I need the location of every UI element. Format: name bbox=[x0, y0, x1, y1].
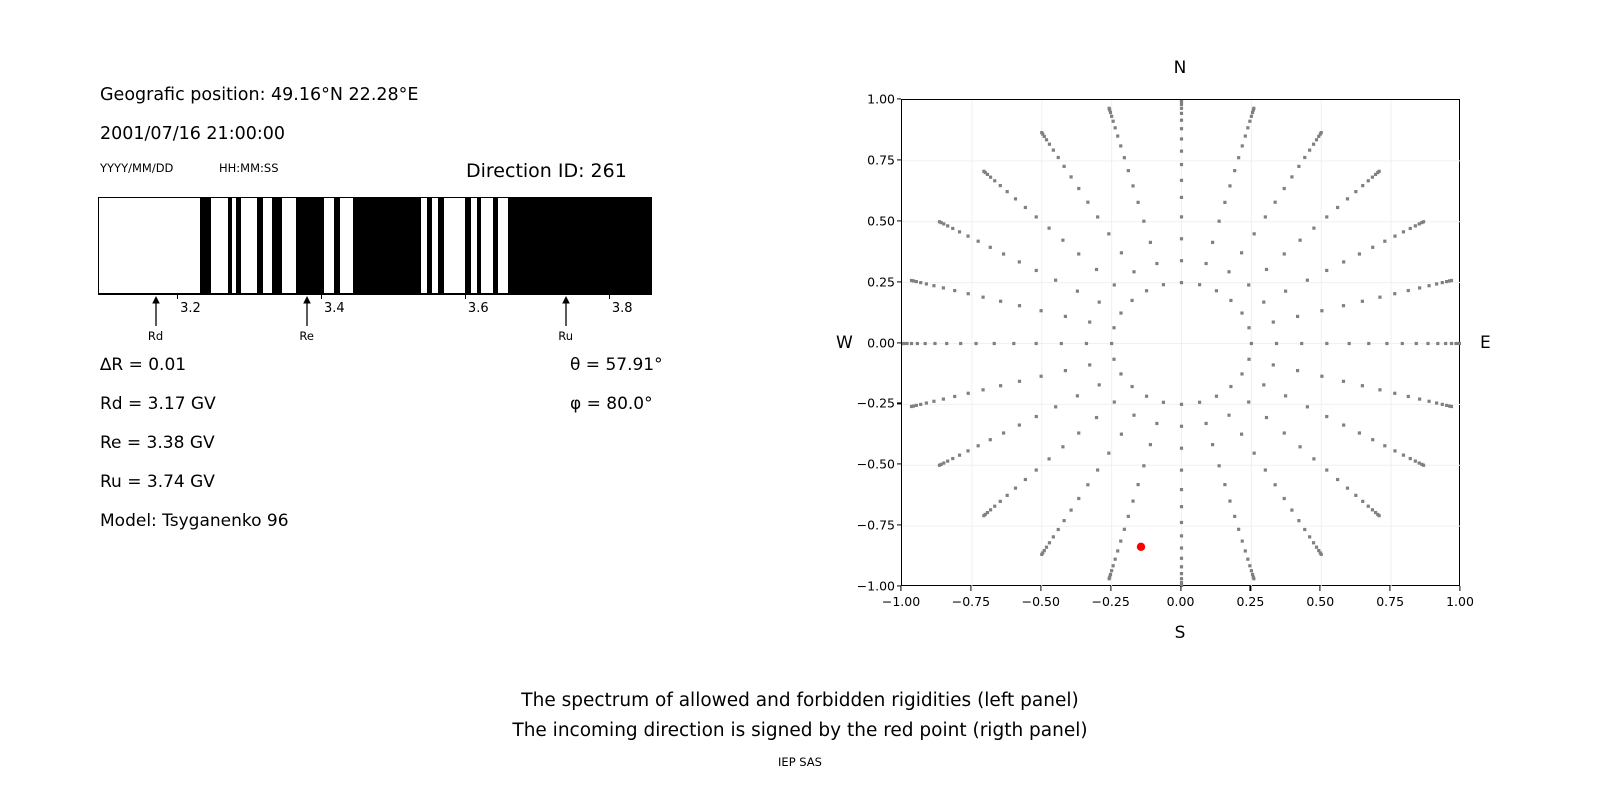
polar-scatter-plot bbox=[901, 99, 1460, 586]
x-axis-tick-label: −0.75 bbox=[941, 594, 1001, 609]
x-axis-tick-label: −0.25 bbox=[1081, 594, 1141, 609]
caption-line-2: The incoming direction is signed by the … bbox=[0, 716, 1600, 746]
y-axis-tick-label: −1.00 bbox=[839, 579, 895, 594]
incoming-direction-panel: N S W E −1.00−0.75−0.50−0.250.000.250.50… bbox=[0, 0, 1600, 660]
x-axis-tick-mark bbox=[900, 586, 901, 591]
x-axis-tick-mark bbox=[1459, 586, 1460, 591]
caption-line-1: The spectrum of allowed and forbidden ri… bbox=[0, 686, 1600, 716]
footer-credit: IEP SAS bbox=[0, 755, 1600, 769]
scatter-canvas bbox=[902, 100, 1461, 587]
y-axis-tick-mark bbox=[897, 342, 902, 343]
y-axis-tick-mark bbox=[897, 220, 902, 221]
y-axis-tick-mark bbox=[897, 525, 902, 526]
y-axis-tick-mark bbox=[897, 403, 902, 404]
x-axis-tick-mark bbox=[1320, 586, 1321, 591]
y-axis-tick-label: 0.50 bbox=[839, 213, 895, 228]
figure-caption: The spectrum of allowed and forbidden ri… bbox=[0, 686, 1600, 746]
x-axis-tick-mark bbox=[970, 586, 971, 591]
y-axis-tick-label: 0.75 bbox=[839, 152, 895, 167]
y-axis-tick-mark bbox=[897, 98, 902, 99]
y-axis-tick-label: −0.75 bbox=[839, 518, 895, 533]
x-axis-tick-label: −0.50 bbox=[1011, 594, 1071, 609]
y-axis-tick-label: 1.00 bbox=[839, 92, 895, 107]
x-axis-tick-mark bbox=[1250, 586, 1251, 591]
x-axis-tick-label: 0.25 bbox=[1220, 594, 1280, 609]
x-axis-tick-mark bbox=[1040, 586, 1041, 591]
y-axis-tick-label: 0.00 bbox=[839, 335, 895, 350]
x-axis-tick-label: 0.50 bbox=[1290, 594, 1350, 609]
y-axis-tick-label: −0.50 bbox=[839, 457, 895, 472]
y-axis-tick-mark bbox=[897, 159, 902, 160]
x-axis-tick-mark bbox=[1390, 586, 1391, 591]
x-axis-tick-mark bbox=[1180, 586, 1181, 591]
y-axis-tick-mark bbox=[897, 464, 902, 465]
x-axis-tick-label: 0.75 bbox=[1360, 594, 1420, 609]
x-axis-tick-label: −1.00 bbox=[871, 594, 931, 609]
compass-label-east: E bbox=[1480, 333, 1491, 353]
x-axis-tick-label: 0.00 bbox=[1151, 594, 1211, 609]
compass-label-north: N bbox=[1174, 58, 1187, 78]
x-axis-tick-mark bbox=[1110, 586, 1111, 591]
incoming-direction-point bbox=[1137, 543, 1145, 551]
compass-label-south: S bbox=[1175, 623, 1186, 643]
y-axis-tick-mark bbox=[897, 281, 902, 282]
y-axis-tick-label: 0.25 bbox=[839, 274, 895, 289]
y-axis-tick-label: −0.25 bbox=[839, 396, 895, 411]
x-axis-tick-label: 1.00 bbox=[1430, 594, 1490, 609]
